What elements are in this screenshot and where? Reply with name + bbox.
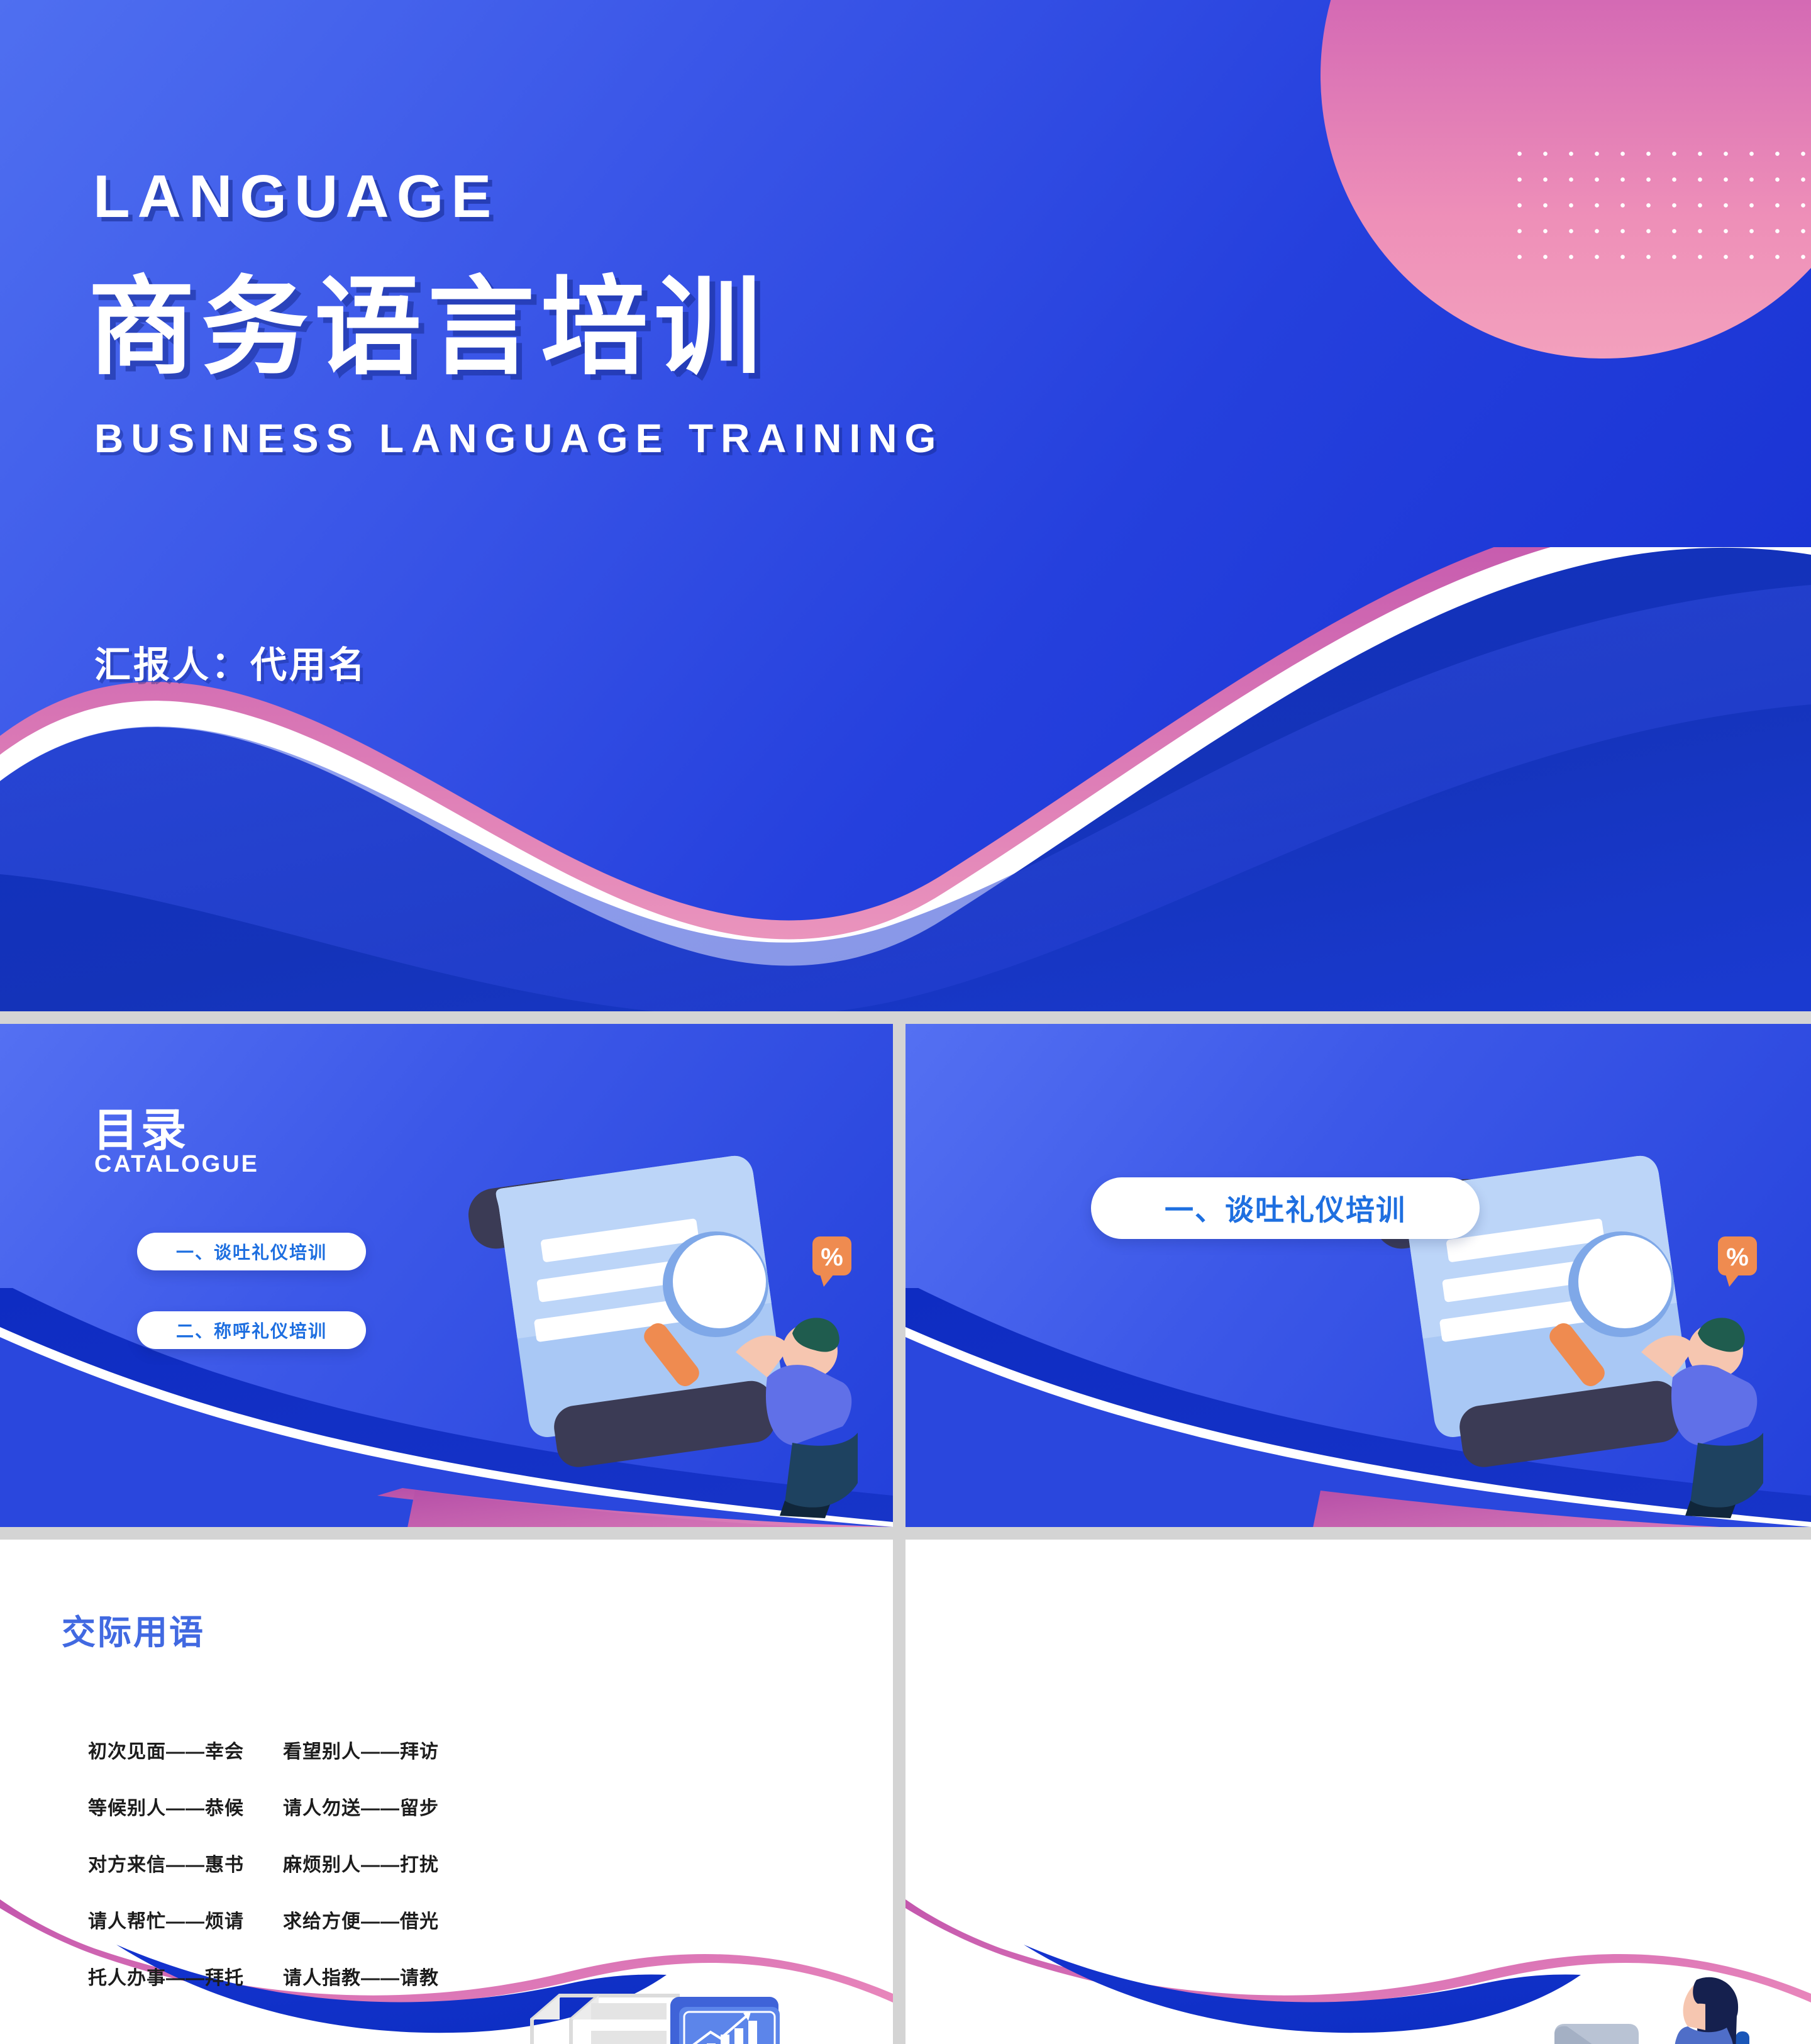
chart-screen-blue <box>670 1997 780 2044</box>
slide-deck: LANGUAGE 商务语言培训 BUSINESS LANGUAGE TRAINI… <box>0 0 1811 2044</box>
phrase-item: 请人勿送——留步 <box>283 1792 478 1820</box>
phrase-list-left: 初次见面——幸会 看望别人——拜访 等候别人——恭候 请人勿送——留步 对方来信… <box>88 1736 478 1990</box>
phrase-item: 看望别人——拜访 <box>283 1736 478 1764</box>
svg-text:%: % <box>821 1243 843 1271</box>
background-documents <box>532 1996 692 2044</box>
svg-text:%: % <box>1726 1243 1749 1271</box>
section-title-label: 一、谈吐礼仪培训 <box>1165 1187 1406 1229</box>
laptop <box>1547 2024 1685 2044</box>
catalogue-subtitle: CATALOGUE <box>94 1151 259 1178</box>
seated-person <box>1629 1977 1738 2044</box>
title-eyebrow: LANGUAGE <box>93 162 499 231</box>
phrase-item: 请人帮忙——烦请 <box>88 1906 283 1933</box>
slide-catalogue: % 目录 CATALOGUE 一、谈吐礼仪培训 二、称呼礼仪培训 <box>0 1024 893 1527</box>
person-with-charts-illustration <box>497 1958 824 2044</box>
catalogue-item-2-label: 二、称呼礼仪培训 <box>176 1318 327 1343</box>
phrase-item: 请人指教——请教 <box>283 1962 478 1990</box>
phrase-item: 求给方便——借光 <box>283 1906 478 1933</box>
phrase-item: 对方来信——惠书 <box>88 1849 283 1877</box>
percent-badge: % <box>812 1236 851 1287</box>
catalogue-item-1[interactable]: 一、谈吐礼仪培训 <box>137 1233 366 1270</box>
wave-decoration <box>0 547 1811 1011</box>
slide-title: LANGUAGE 商务语言培训 BUSINESS LANGUAGE TRAINI… <box>0 0 1811 1011</box>
slide-content-left: 交际用语 初次见面——幸会 看望别人——拜访 等候别人——恭候 请人勿送——留步… <box>0 1540 893 2044</box>
phrase-item: 等候别人——恭候 <box>88 1792 283 1820</box>
catalogue-item-1-label: 一、谈吐礼仪培训 <box>176 1239 327 1264</box>
phrase-item: 托人办事——拜托 <box>88 1962 283 1990</box>
catalogue-title: 目录 <box>93 1093 189 1159</box>
phrase-item: 麻烦别人——打扰 <box>283 1849 478 1877</box>
page-title: 商务语言培训 <box>88 240 767 395</box>
percent-badge: % <box>1718 1236 1757 1287</box>
title-subtitle: BUSINESS LANGUAGE TRAINING <box>94 415 943 462</box>
presenter-label: 汇报人：代用名 <box>94 635 367 688</box>
phrase-item: 初次见面——幸会 <box>88 1736 283 1764</box>
content-left-heading: 交际用语 <box>62 1604 205 1654</box>
catalogue-item-2[interactable]: 二、称呼礼仪培训 <box>137 1311 366 1349</box>
person-at-desk-illustration <box>1421 1942 1773 2044</box>
slide-section-divider: % 一、谈吐礼仪培训 <box>906 1024 1811 1527</box>
slide-content-right: 交际用语 他人指点——赐教 请人解答——请问 赞人见解——高见 归还原物——奉还… <box>906 1540 1811 2044</box>
dot-grid-decoration <box>1503 137 1811 266</box>
section-title-pill[interactable]: 一、谈吐礼仪培训 <box>1091 1177 1480 1239</box>
document-search-illustration: % <box>440 1131 868 1521</box>
